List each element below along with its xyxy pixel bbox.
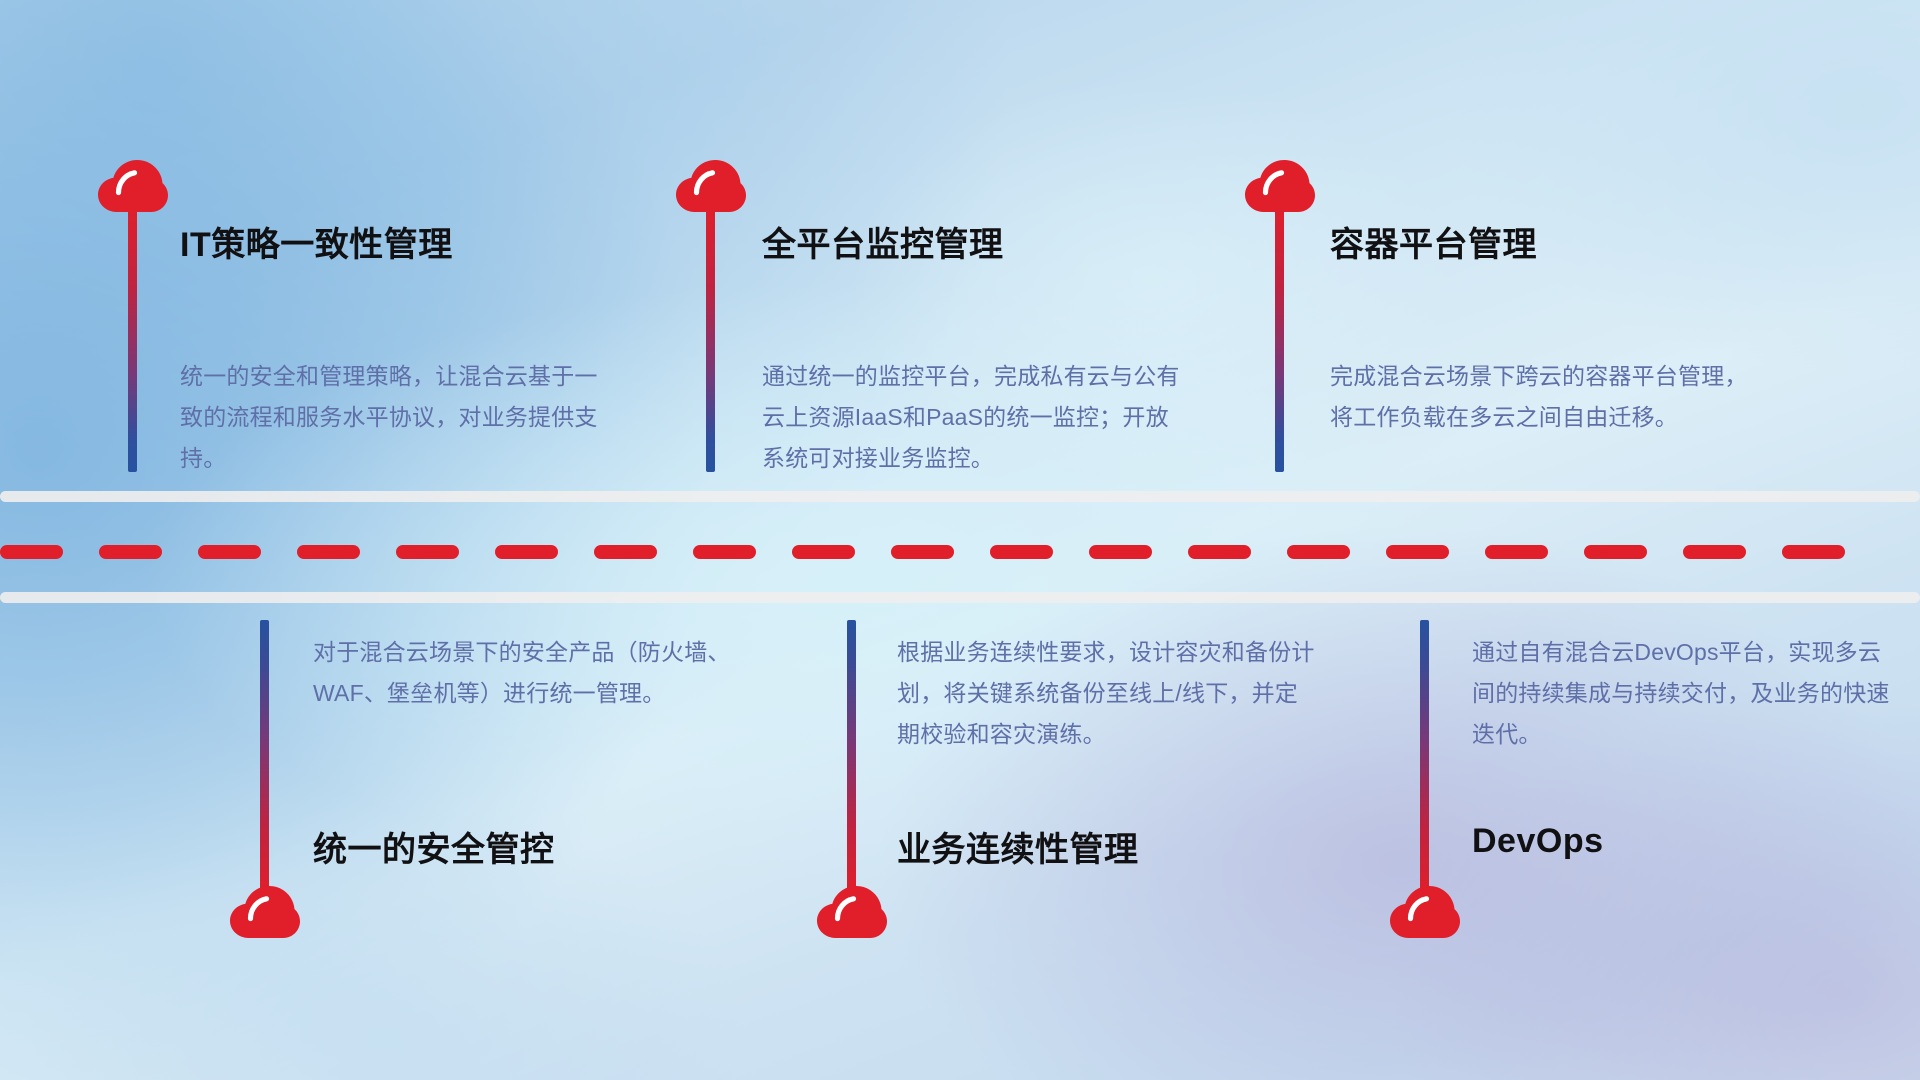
heading-container-platform: 容器平台管理: [1330, 217, 1537, 266]
road-dash: [1782, 545, 1845, 559]
road-dash: [1386, 545, 1449, 559]
road-dash: [693, 545, 756, 559]
road-dash: [792, 545, 855, 559]
road-rail-top: [0, 491, 1920, 502]
road-dash: [99, 545, 162, 559]
body-it-policy-consistency: 统一的安全和管理策略，让混合云基于一致的流程和服务水平协议，对业务提供支持。: [180, 356, 600, 479]
pin-stem: [847, 620, 856, 892]
road-dash: [1188, 545, 1251, 559]
pin-stem: [706, 208, 715, 472]
road-dash: [990, 545, 1053, 559]
pin-stem: [260, 620, 269, 892]
pin-container-platform: [1245, 160, 1315, 472]
cloud-pin-icon: [1390, 886, 1460, 940]
heading-it-policy-consistency: IT策略一致性管理: [180, 217, 453, 266]
pin-unified-security: [230, 620, 300, 940]
body-devops: 通过自有混合云DevOps平台，实现多云间的持续集成与持续交付，及业务的快速迭代…: [1472, 632, 1892, 755]
cloud-pin-icon: [1245, 160, 1315, 214]
road-center-dashes: [0, 545, 1920, 559]
pin-it-policy-consistency: [98, 160, 168, 472]
pin-devops: [1390, 620, 1460, 940]
road-rail-bottom: [0, 592, 1920, 603]
pin-stem: [1275, 208, 1284, 472]
road-dash: [0, 545, 63, 559]
cloud-pin-icon: [817, 886, 887, 940]
pin-stem: [128, 208, 137, 472]
road-dash: [594, 545, 657, 559]
road-dash: [1683, 545, 1746, 559]
body-unified-security: 对于混合云场景下的安全产品（防火墙、WAF、堡垒机等）进行统一管理。: [313, 632, 733, 714]
road-dash: [1584, 545, 1647, 559]
pin-stem: [1420, 620, 1429, 892]
road-dash: [297, 545, 360, 559]
heading-unified-security: 统一的安全管控: [313, 822, 555, 871]
cloud-pin-icon: [98, 160, 168, 214]
road-dash: [891, 545, 954, 559]
heading-full-platform-monitoring: 全平台监控管理: [762, 217, 1004, 266]
body-container-platform: 完成混合云场景下跨云的容器平台管理，将工作负载在多云之间自由迁移。: [1330, 356, 1750, 438]
road-dash: [1485, 545, 1548, 559]
pin-business-continuity: [817, 620, 887, 940]
cloud-pin-icon: [230, 886, 300, 940]
road-dash: [1089, 545, 1152, 559]
body-full-platform-monitoring: 通过统一的监控平台，完成私有云与公有云上资源IaaS和PaaS的统一监控；开放系…: [762, 356, 1182, 479]
pin-full-platform-monitoring: [676, 160, 746, 472]
road-dash: [198, 545, 261, 559]
infographic-canvas: IT策略一致性管理 统一的安全和管理策略，让混合云基于一致的流程和服务水平协议，…: [0, 0, 1920, 1080]
road-dash: [495, 545, 558, 559]
body-business-continuity: 根据业务连续性要求，设计容灾和备份计划，将关键系统备份至线上/线下，并定期校验和…: [897, 632, 1317, 755]
road-dash: [396, 545, 459, 559]
cloud-pin-icon: [676, 160, 746, 214]
road-dash: [1287, 545, 1350, 559]
heading-business-continuity: 业务连续性管理: [897, 822, 1139, 871]
heading-devops: DevOps: [1472, 822, 1604, 861]
